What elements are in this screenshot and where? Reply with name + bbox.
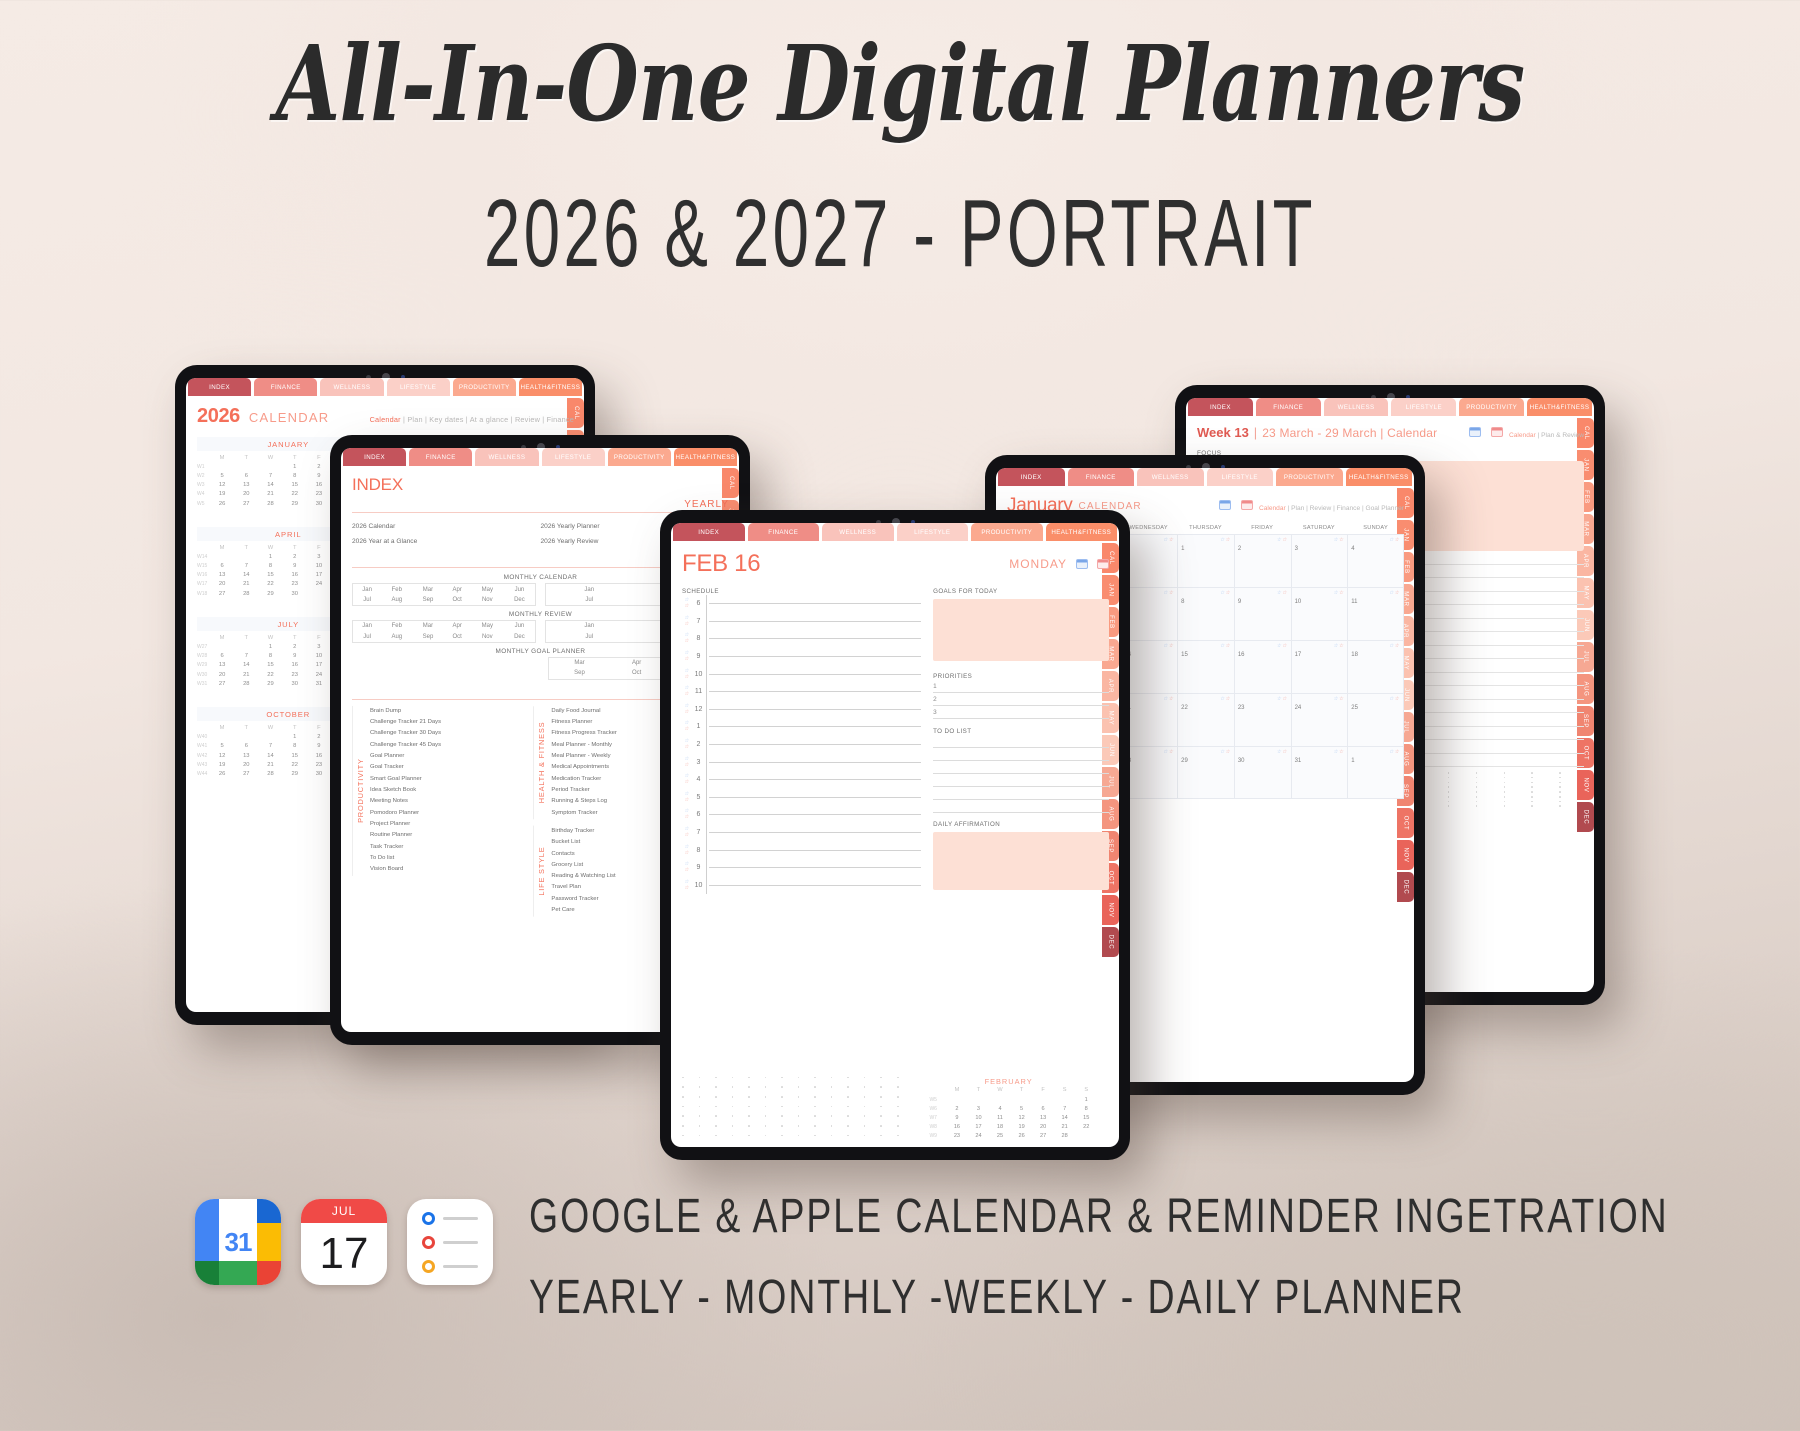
apple-calendar-icon[interactable] [1241,500,1253,510]
dot [748,1135,750,1137]
star-red-icon[interactable]: ☆ [684,833,688,838]
dot [798,1115,800,1117]
template-item[interactable]: Vision Board [370,864,441,875]
template-item[interactable]: Meal Planner - Monthly [551,740,616,751]
yearly-items-left[interactable]: 2026 Calendar2026 Year at a Glance [352,519,541,549]
tab-finance[interactable]: FINANCE [1256,398,1321,416]
tab-health-fitness[interactable]: HEALTH&FITNESS [1346,468,1413,486]
dot [831,1106,833,1108]
template-item[interactable]: Reading & Watching List [551,871,615,882]
monthly-day-cell[interactable]: 11☆☆ [1347,587,1404,640]
template-item[interactable]: Challenge Tracker 21 Days [370,717,441,728]
year-number: 2026 [197,405,240,428]
star-red-icon[interactable]: ☆ [1395,643,1400,649]
dot [814,1096,816,1098]
day-star-icons[interactable]: ☆☆ [1389,590,1400,596]
star-red-icon[interactable]: ☆ [1169,749,1174,755]
tablet-daily-planner[interactable]: INDEX FINANCE WELLNESS LIFESTYLE PRODUCT… [660,510,1130,1160]
star-red-icon[interactable]: ☆ [1395,590,1400,596]
day-star-icons[interactable]: ☆☆ [1333,749,1344,755]
index-link[interactable]: 2026 Year at a Glance [352,534,541,549]
star-red-icon[interactable]: ☆ [1169,696,1174,702]
star-red-icon[interactable]: ☆ [684,815,688,820]
tab-lifestyle[interactable]: LIFESTYLE [897,523,969,541]
template-item[interactable]: Medication Tracker [551,774,616,785]
schedule-line[interactable] [709,762,921,763]
schedule-row[interactable]: ☆☆6 [682,595,921,613]
dot [831,1125,833,1127]
monthly-day-cell[interactable]: 16☆☆ [1234,640,1291,693]
monthly-day-number: 30 [1238,758,1245,764]
monthly-day-cell[interactable]: 29☆☆ [1177,746,1234,799]
dot [831,1077,833,1079]
day-star-icons[interactable]: ☆☆ [1220,749,1231,755]
template-item[interactable]: Challenge Tracker 30 Days [370,728,441,739]
schedule-star-icons[interactable]: ☆☆ [682,721,691,732]
monthly-day-cell[interactable]: 15☆☆ [1177,640,1234,693]
todo-row[interactable] [933,787,1109,800]
day-star-icons[interactable]: ☆☆ [1277,590,1288,596]
star-red-icon[interactable]: ☆ [1282,643,1287,649]
day-star-icons[interactable]: ☆☆ [1333,643,1344,649]
schedule-line[interactable] [709,726,921,727]
tab-index[interactable]: INDEX [343,448,406,466]
schedule-star-icons[interactable]: ☆☆ [682,598,691,609]
template-item[interactable]: Fitness Progress Tracker [551,728,616,739]
star-red-icon[interactable]: ☆ [684,710,688,715]
template-item[interactable]: Brain Dump [370,706,441,717]
schedule-row[interactable]: ☆☆1 [682,718,921,736]
day-star-icons[interactable]: ☆☆ [1389,643,1400,649]
schedule-star-icons[interactable]: ☆☆ [682,809,691,820]
tab-wellness[interactable]: WELLNESS [1137,468,1204,486]
star-red-icon[interactable]: ☆ [684,851,688,856]
star-red-icon[interactable]: ☆ [1282,590,1287,596]
monthly-day-cell[interactable]: 8☆☆ [1177,587,1234,640]
dot [781,1086,783,1088]
schedule-line[interactable] [709,814,921,815]
dot [1448,777,1450,779]
star-red-icon[interactable]: ☆ [1339,537,1344,543]
monthly-nav-links[interactable]: Calendar | Plan | Review | Finance | Goa… [1210,500,1404,512]
schedule-star-icons[interactable]: ☆☆ [682,669,691,680]
schedule-line[interactable] [709,603,921,604]
star-red-icon[interactable]: ☆ [684,745,688,750]
priority-row[interactable]: 3 [933,706,1109,719]
template-item[interactable]: Challenge Tracker 45 Days [370,740,441,751]
footer-text: GOOGLE & APPLE CALENDAR & REMINDER INGET… [529,1189,1800,1325]
monthly-calendar-box[interactable]: JanFebMarAprMayJunJulAugSepOctNovDec [352,583,536,606]
star-red-icon[interactable]: ☆ [684,675,688,680]
template-item[interactable]: Goal Planner [370,751,441,762]
schedule-line[interactable] [709,709,921,710]
apple-calendar-icon[interactable] [1097,559,1109,569]
footer-line-2: YEARLY - MONTHLY -WEEKLY - DAILY PLANNER [529,1270,1669,1325]
daily-mini-calendar[interactable]: FEBRUARY MTWTFSSW51W62345678W79101112131… [920,1077,1097,1141]
monthly-day-cell[interactable]: 3☆☆ [1291,534,1348,587]
day-star-icons[interactable]: ☆☆ [1277,696,1288,702]
tab-lifestyle[interactable]: LIFESTYLE [387,378,450,396]
star-red-icon[interactable]: ☆ [1339,696,1344,702]
affirmation-input-box[interactable] [933,832,1109,890]
monthly-day-cell[interactable]: 22☆☆ [1177,693,1234,746]
monthly-day-cell[interactable]: 18☆☆ [1347,640,1404,693]
template-item[interactable]: Pet Care [551,905,615,916]
template-item[interactable]: Contacts [551,849,615,860]
dot [864,1077,866,1079]
star-red-icon[interactable]: ☆ [1339,590,1344,596]
schedule-line[interactable] [709,797,921,798]
star-red-icon[interactable]: ☆ [1169,590,1174,596]
schedule-line[interactable] [709,691,921,692]
schedule-star-icons[interactable]: ☆☆ [682,651,691,662]
todo-rows[interactable] [933,735,1109,813]
tab-finance[interactable]: FINANCE [748,523,820,541]
dot [1531,772,1533,774]
week-label: Week 13 [1197,425,1249,440]
schedule-line[interactable] [709,779,921,780]
star-red-icon[interactable]: ☆ [1395,696,1400,702]
tab-finance[interactable]: FINANCE [254,378,317,396]
tab-productivity[interactable]: PRODUCTIVITY [608,448,671,466]
star-blue-icon[interactable]: ☆ [684,757,688,762]
dot [748,1096,750,1098]
monthly-day-cell[interactable]: 10☆☆ [1291,587,1348,640]
todo-row[interactable] [933,748,1109,761]
weekly-nav-links[interactable]: Calendar | Plan & Review [1460,427,1584,439]
dot [1531,805,1533,807]
star-red-icon[interactable]: ☆ [1282,749,1287,755]
apple-calendar-day: 17 [301,1223,387,1285]
tab-finance[interactable]: FINANCE [409,448,472,466]
dot [781,1125,783,1127]
star-red-icon[interactable]: ☆ [684,604,688,609]
schedule-row[interactable]: ☆☆9 [682,859,921,877]
dot [715,1115,717,1117]
schedule-line[interactable] [709,744,921,745]
tab-index[interactable]: INDEX [1188,398,1253,416]
monthly-day-cell[interactable]: 24☆☆ [1291,693,1348,746]
star-red-icon[interactable]: ☆ [684,780,688,785]
google-calendar-icon[interactable] [1219,500,1231,510]
tab-health-fitness[interactable]: HEALTH&FITNESS [519,378,582,396]
schedule-star-icons[interactable]: ☆☆ [682,686,691,697]
apple-calendar-icon[interactable] [1491,427,1503,437]
tab-productivity[interactable]: PRODUCTIVITY [1459,398,1524,416]
schedule-rows[interactable]: ☆☆6☆☆7☆☆8☆☆9☆☆10☆☆11☆☆12☆☆1☆☆2☆☆3☆☆4☆☆5☆… [682,595,921,894]
dot [1504,777,1506,779]
day-star-icons[interactable]: ☆☆ [1220,590,1231,596]
dot [864,1135,866,1137]
schedule-row[interactable]: ☆☆9 [682,648,921,666]
star-red-icon[interactable]: ☆ [1225,537,1230,543]
dot [880,1106,882,1108]
dot [847,1077,849,1079]
schedule-star-icons[interactable]: ☆☆ [682,739,691,750]
day-star-icons[interactable]: ☆☆ [1163,537,1174,543]
monthly-day-cell[interactable]: 17☆☆ [1291,640,1348,693]
top-tab-bar[interactable]: INDEX FINANCE WELLNESS LIFESTYLE PRODUCT… [341,448,739,466]
star-red-icon[interactable]: ☆ [1282,696,1287,702]
schedule-star-icons[interactable]: ☆☆ [682,757,691,768]
dot [781,1135,783,1137]
dot [715,1135,717,1137]
priority-row[interactable]: 1 [933,680,1109,693]
schedule-line[interactable] [709,885,921,886]
star-red-icon[interactable]: ☆ [684,868,688,873]
monthly-day-cell[interactable]: 9☆☆ [1234,587,1291,640]
tab-lifestyle[interactable]: LIFESTYLE [1391,398,1456,416]
template-item[interactable]: Bucket List [551,837,615,848]
star-red-icon[interactable]: ☆ [684,763,688,768]
star-red-icon[interactable]: ☆ [684,622,688,627]
tab-lifestyle[interactable]: LIFESTYLE [542,448,605,466]
schedule-star-icons[interactable]: ☆☆ [682,845,691,856]
day-star-icons[interactable]: ☆☆ [1333,696,1344,702]
schedule-hour: 10 [691,665,707,683]
day-star-icons[interactable]: ☆☆ [1163,590,1174,596]
schedule-row[interactable]: ☆☆10 [682,877,921,895]
day-star-icons[interactable]: ☆☆ [1163,643,1174,649]
star-red-icon[interactable]: ☆ [1282,537,1287,543]
schedule-star-icons[interactable]: ☆☆ [682,616,691,627]
dot [1476,782,1478,784]
tab-finance[interactable]: FINANCE [1068,468,1135,486]
schedule-line[interactable] [709,621,921,622]
schedule-row[interactable]: ☆☆7 [682,824,921,842]
schedule-row[interactable]: ☆☆10 [682,665,921,683]
star-red-icon[interactable]: ☆ [1339,643,1344,649]
templates-left: PRODUCTIVITYBrain DumpChallenge Tracker … [352,706,525,924]
daily-dot-grid [682,1077,910,1141]
dot [765,1086,767,1088]
day-star-icons[interactable]: ☆☆ [1277,537,1288,543]
schedule-hour: 11 [691,683,707,701]
todo-row[interactable] [933,800,1109,813]
template-item[interactable]: Routine Planner [370,830,441,841]
template-item[interactable]: Task Tracker [370,842,441,853]
template-item[interactable]: Grocery List [551,860,615,871]
todo-row[interactable] [933,761,1109,774]
dot [847,1096,849,1098]
template-item[interactable]: Symptom Tracker [551,808,616,819]
tab-index[interactable]: INDEX [673,523,745,541]
schedule-star-icons[interactable]: ☆☆ [682,880,691,891]
schedule-row[interactable]: ☆☆3 [682,753,921,771]
tab-wellness[interactable]: WELLNESS [320,378,383,396]
dot [814,1125,816,1127]
template-item[interactable]: Travel Plan [551,882,615,893]
schedule-row[interactable]: ☆☆7 [682,613,921,631]
day-star-icons[interactable]: ☆☆ [1220,537,1231,543]
template-item[interactable]: To Do list [370,853,441,864]
dot [682,1135,684,1137]
day-star-icons[interactable]: ☆☆ [1389,749,1400,755]
monthly-day-cell[interactable]: 2☆☆ [1234,534,1291,587]
tab-index[interactable]: INDEX [998,468,1065,486]
monthly-day-number: 18 [1351,652,1358,658]
day-star-icons[interactable]: ☆☆ [1277,749,1288,755]
schedule-row[interactable]: ☆☆11 [682,683,921,701]
star-red-icon[interactable]: ☆ [1395,537,1400,543]
top-tab-bar[interactable]: INDEX FINANCE WELLNESS LIFESTYLE PRODUCT… [671,523,1119,541]
day-star-icons[interactable]: ☆☆ [1389,537,1400,543]
top-tab-bar[interactable]: INDEX FINANCE WELLNESS LIFESTYLE PRODUCT… [996,468,1414,486]
dot [1531,791,1533,793]
tab-health-fitness[interactable]: HEALTH&FITNESS [1527,398,1592,416]
schedule-row[interactable]: ☆☆2 [682,736,921,754]
day-star-icons[interactable]: ☆☆ [1333,537,1344,543]
schedule-row[interactable]: ☆☆8 [682,841,921,859]
tab-productivity[interactable]: PRODUCTIVITY [971,523,1043,541]
day-star-icons[interactable]: ☆☆ [1163,749,1174,755]
tab-productivity[interactable]: PRODUCTIVITY [453,378,516,396]
star-red-icon[interactable]: ☆ [1169,643,1174,649]
year-word: CALENDAR [249,410,329,425]
schedule-row[interactable]: ☆☆6 [682,806,921,824]
schedule-row[interactable]: ☆☆4 [682,771,921,789]
monthly-day-header: FRIDAY [1234,525,1291,534]
dot [715,1086,717,1088]
integration-icons: 31 JUL 17 [195,1199,493,1285]
priority-row[interactable]: 2 [933,693,1109,706]
schedule-star-icons[interactable]: ☆☆ [682,827,691,838]
dot [798,1106,800,1108]
dot [880,1086,882,1088]
star-red-icon[interactable]: ☆ [1339,749,1344,755]
template-item[interactable]: Birthday Tracker [551,826,615,837]
tab-wellness[interactable]: WELLNESS [475,448,538,466]
monthly-day-cell[interactable]: 1☆☆ [1347,746,1404,799]
day-star-icons[interactable]: ☆☆ [1220,643,1231,649]
day-star-icons[interactable]: ☆☆ [1277,643,1288,649]
template-item[interactable]: Fitness Planner [551,717,616,728]
schedule-line[interactable] [709,832,921,833]
monthly-review-box[interactable]: JanFebMarAprMayJunJulAugSepOctNovDec [352,620,536,643]
todo-row[interactable] [933,774,1109,787]
monthly-day-cell[interactable]: 30☆☆ [1234,746,1291,799]
schedule-row[interactable]: ☆☆8 [682,630,921,648]
apple-reminders-icon [407,1199,493,1285]
star-red-icon[interactable]: ☆ [684,639,688,644]
day-star-icons[interactable]: ☆☆ [1163,696,1174,702]
yearly-nav-links[interactable]: Calendar | Plan | Key dates | At a glanc… [370,415,574,424]
dot [699,1086,701,1088]
dot [1504,772,1506,774]
tab-health-fitness[interactable]: HEALTH&FITNESS [1046,523,1118,541]
template-item[interactable]: Project Planner [370,819,441,830]
day-star-icons[interactable]: ☆☆ [1220,696,1231,702]
star-red-icon[interactable]: ☆ [684,798,688,803]
top-tab-bar[interactable]: INDEX FINANCE WELLNESS LIFESTYLE PRODUCT… [1186,398,1594,416]
goals-input-box[interactable] [933,599,1109,661]
dot [880,1115,882,1117]
star-red-icon[interactable]: ☆ [1225,696,1230,702]
template-item[interactable]: Password Tracker [551,894,615,905]
google-calendar-icon[interactable] [1076,559,1088,569]
tab-wellness[interactable]: WELLNESS [822,523,894,541]
schedule-line[interactable] [709,867,921,868]
schedule-star-icons[interactable]: ☆☆ [682,862,691,873]
tab-wellness[interactable]: WELLNESS [1324,398,1389,416]
schedule-line[interactable] [709,674,921,675]
schedule-row[interactable]: ☆☆12 [682,701,921,719]
monthly-day-cell[interactable]: 23☆☆ [1234,693,1291,746]
day-star-icons[interactable]: ☆☆ [1389,696,1400,702]
schedule-line[interactable] [709,850,921,851]
monthly-day-cell[interactable]: 25☆☆ [1347,693,1404,746]
template-item[interactable]: Period Tracker [551,785,616,796]
template-item[interactable]: Goal Tracker [370,762,441,773]
schedule-star-icons[interactable]: ☆☆ [682,774,691,785]
star-red-icon[interactable]: ☆ [684,886,688,891]
monthly-day-number: 22 [1181,705,1188,711]
page-header: All-In-One Digital Planners 2026 & 2027 … [0,22,1800,289]
monthly-day-cell[interactable]: 31☆☆ [1291,746,1348,799]
priority-rows[interactable]: 123 [933,680,1109,719]
schedule-label: SCHEDULE [682,588,921,595]
schedule-line[interactable] [709,656,921,657]
top-tab-bar[interactable]: INDEX FINANCE WELLNESS LIFESTYLE PRODUCT… [186,378,584,396]
schedule-star-icons[interactable]: ☆☆ [682,792,691,803]
tab-index[interactable]: INDEX [188,378,251,396]
star-blue-icon[interactable]: ☆ [684,845,688,850]
dot [897,1106,899,1108]
monthly-day-header: SATURDAY [1291,525,1348,534]
dot [765,1077,767,1079]
template-item[interactable]: Meal Planner - Weekly [551,751,616,762]
schedule-star-icons[interactable]: ☆☆ [682,704,691,715]
star-red-icon[interactable]: ☆ [1225,643,1230,649]
template-item[interactable]: Daily Food Journal [551,706,616,717]
star-red-icon[interactable]: ☆ [1225,749,1230,755]
day-star-icons[interactable]: ☆☆ [1333,590,1344,596]
template-item[interactable]: Smart Goal Planner [370,774,441,785]
star-red-icon[interactable]: ☆ [1169,537,1174,543]
google-calendar-icon[interactable] [1469,427,1481,437]
tab-health-fitness[interactable]: HEALTH&FITNESS [674,448,737,466]
schedule-line[interactable] [709,638,921,639]
daily-right-column: GOALS FOR TODAY PRIORITIES 123 TO DO LIS… [933,588,1109,1133]
schedule-hour: 8 [691,841,707,859]
star-red-icon[interactable]: ☆ [684,657,688,662]
template-item[interactable]: Running & Steps Log [551,796,616,807]
dot [864,1115,866,1117]
dot [831,1135,833,1137]
star-red-icon[interactable]: ☆ [1225,590,1230,596]
star-blue-icon[interactable]: ☆ [684,669,688,674]
template-item[interactable]: Medical Appointments [551,762,616,773]
tab-productivity[interactable]: PRODUCTIVITY [1276,468,1343,486]
index-link[interactable]: 2026 Calendar [352,519,541,534]
schedule-star-icons[interactable]: ☆☆ [682,633,691,644]
dot [732,1125,734,1127]
template-item[interactable]: Meeting Notes [370,796,441,807]
schedule-row[interactable]: ☆☆5 [682,789,921,807]
template-item[interactable]: Idea Sketch Book [370,785,441,796]
template-item[interactable]: Pomodoro Planner [370,808,441,819]
todo-row[interactable] [933,735,1109,748]
monthly-day-cell[interactable]: 1☆☆ [1177,534,1234,587]
tab-lifestyle[interactable]: LIFESTYLE [1207,468,1274,486]
dot [897,1096,899,1098]
schedule-hour: 2 [691,736,707,754]
dot [1531,801,1533,803]
star-red-icon[interactable]: ☆ [684,727,688,732]
monthly-day-cell[interactable]: 4☆☆ [1347,534,1404,587]
star-red-icon[interactable]: ☆ [1395,749,1400,755]
star-red-icon[interactable]: ☆ [684,692,688,697]
